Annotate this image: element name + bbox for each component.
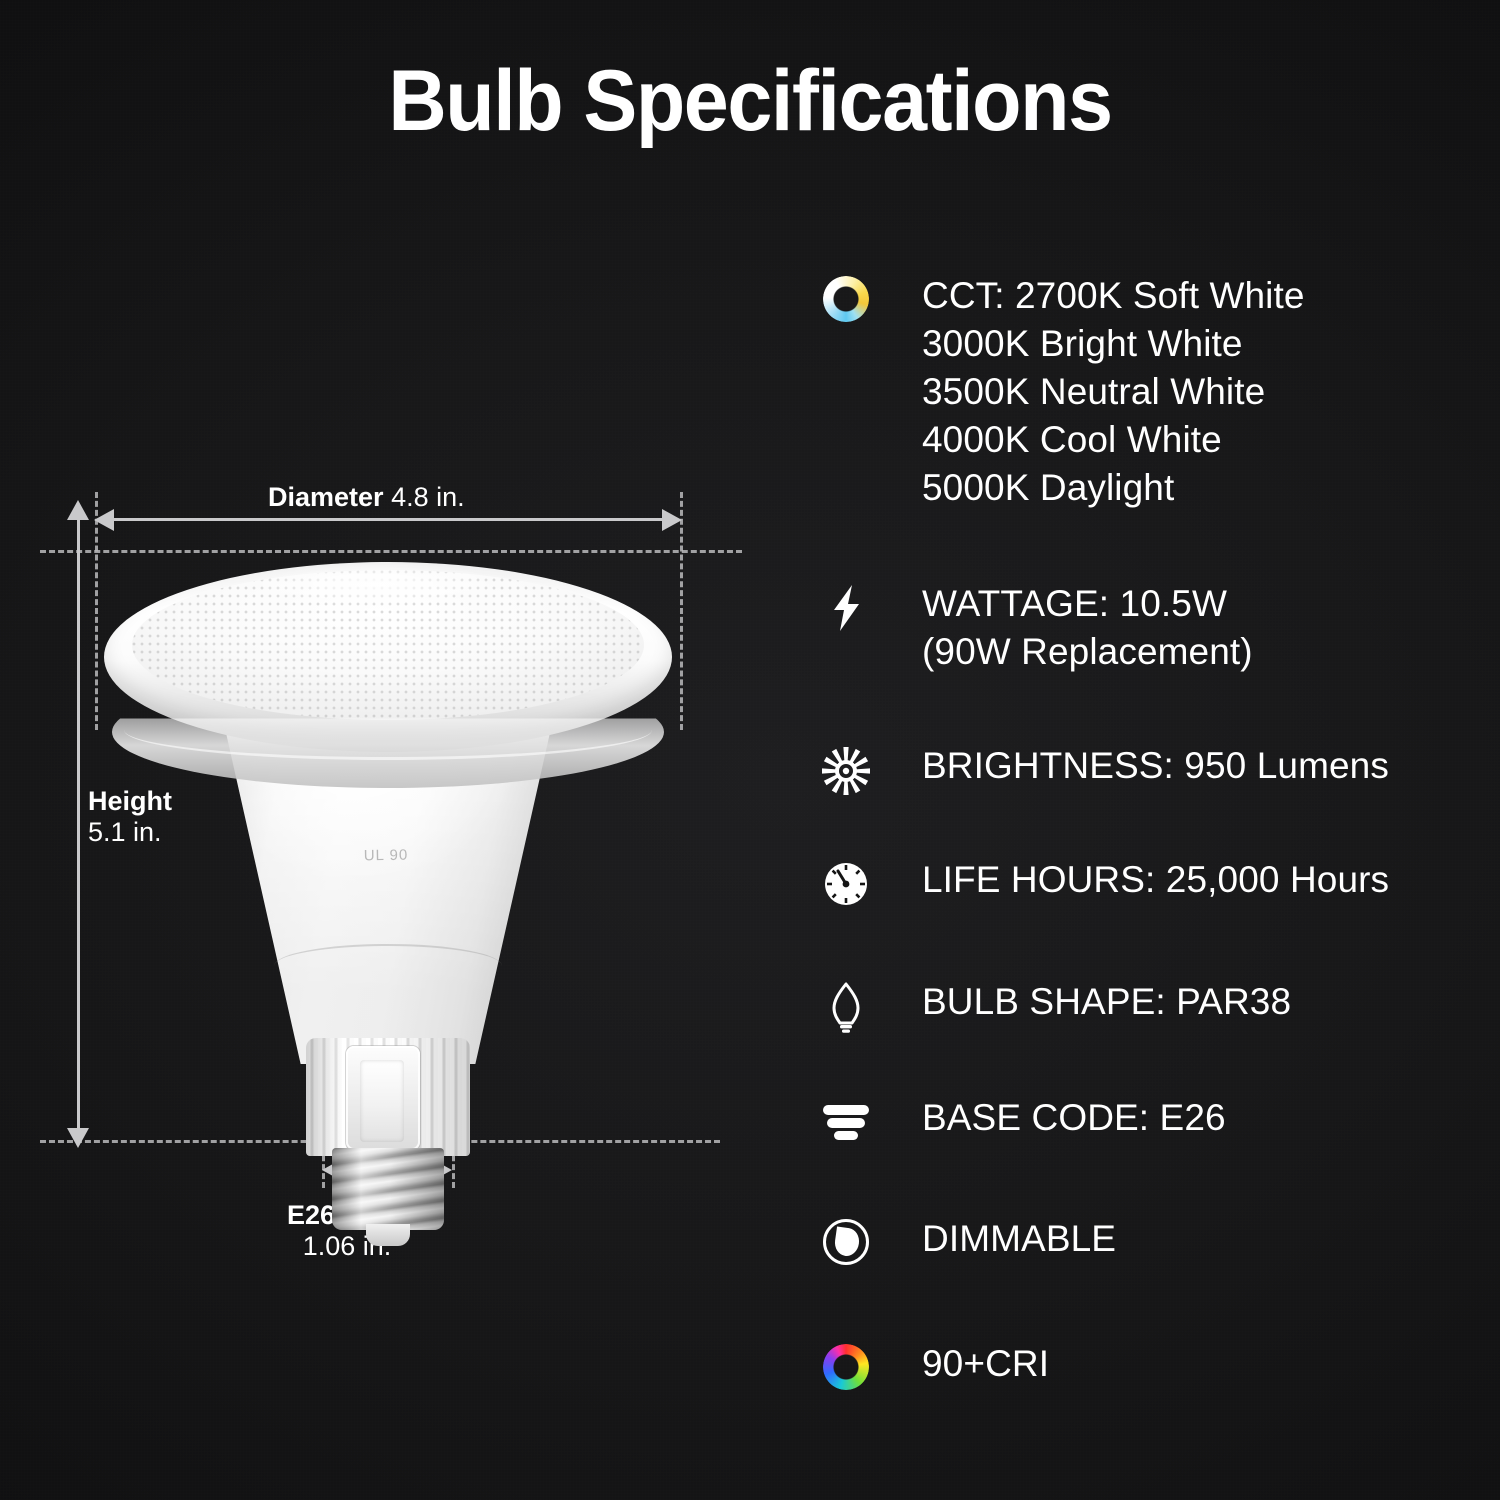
diameter-label-value: 4.8 in. (391, 482, 465, 512)
spec-text-dimmable: DIMMABLE (882, 1215, 1116, 1263)
spec-text-cri: 90+CRI (882, 1340, 1049, 1388)
sun-burst-icon (810, 742, 882, 796)
spec-text-bulb-shape: BULB SHAPE: PAR38 (882, 978, 1291, 1026)
color-wheel-icon (810, 1340, 882, 1390)
spec-row-dimmable: DIMMABLE (810, 1215, 1500, 1265)
diameter-arrow-head-right (662, 509, 682, 531)
infographic-page: Bulb Specifications Diameter 4.8 in. Hei… (0, 0, 1500, 1500)
spec-row-cct: CCT: 2700K Soft White 3000K Bright White… (810, 272, 1500, 512)
bulb-neck-label-inner (360, 1060, 404, 1142)
spec-text-brightness: BRIGHTNESS: 950 Lumens (882, 742, 1389, 790)
bulb-e26-base-tip (366, 1224, 410, 1246)
base-label-value: 1.06 in. (237, 1231, 457, 1262)
screw-base-icon (810, 1094, 882, 1142)
par38-bulb-image: UL 90 (98, 548, 678, 1148)
dimmer-ring-icon (810, 1215, 882, 1265)
lightning-bolt-icon (810, 580, 882, 632)
spec-row-life-hours: LIFE HOURS: 25,000 Hours (810, 856, 1500, 908)
diameter-label-name: Diameter (268, 482, 384, 512)
spec-text-life-hours: LIFE HOURS: 25,000 Hours (882, 856, 1389, 904)
height-arrow-head-top (67, 500, 89, 520)
bulb-dimension-panel: Diameter 4.8 in. Height 5.1 in. E26 Base… (0, 0, 760, 1500)
diameter-arrow-line (100, 518, 676, 521)
height-arrow-head-bottom (67, 1128, 89, 1148)
bulb-outline-icon (810, 978, 882, 1034)
clock-icon (810, 856, 882, 908)
bulb-etch-text: UL 90 (341, 847, 431, 864)
spec-text-base-code: BASE CODE: E26 (882, 1094, 1226, 1142)
spec-row-base-code: BASE CODE: E26 (810, 1094, 1500, 1142)
height-arrow-line (77, 512, 80, 1138)
specification-list: CCT: 2700K Soft White 3000K Bright White… (810, 0, 1500, 1500)
bulb-e26-base-gloss (332, 1148, 444, 1230)
spec-text-wattage: WATTAGE: 10.5W (90W Replacement) (882, 580, 1253, 676)
spec-row-wattage: WATTAGE: 10.5W (90W Replacement) (810, 580, 1500, 676)
spec-row-bulb-shape: BULB SHAPE: PAR38 (810, 978, 1500, 1034)
bulb-lens-rim-line (124, 700, 652, 760)
color-temperature-ring-icon (810, 272, 882, 322)
spec-text-cct: CCT: 2700K Soft White 3000K Bright White… (882, 272, 1305, 512)
spec-row-cri: 90+CRI (810, 1340, 1500, 1390)
diameter-arrow-head-left (94, 509, 114, 531)
spec-row-brightness: BRIGHTNESS: 950 Lumens (810, 742, 1500, 796)
bulb-lens-highlight (248, 562, 498, 606)
diameter-label: Diameter 4.8 in. (268, 482, 465, 513)
